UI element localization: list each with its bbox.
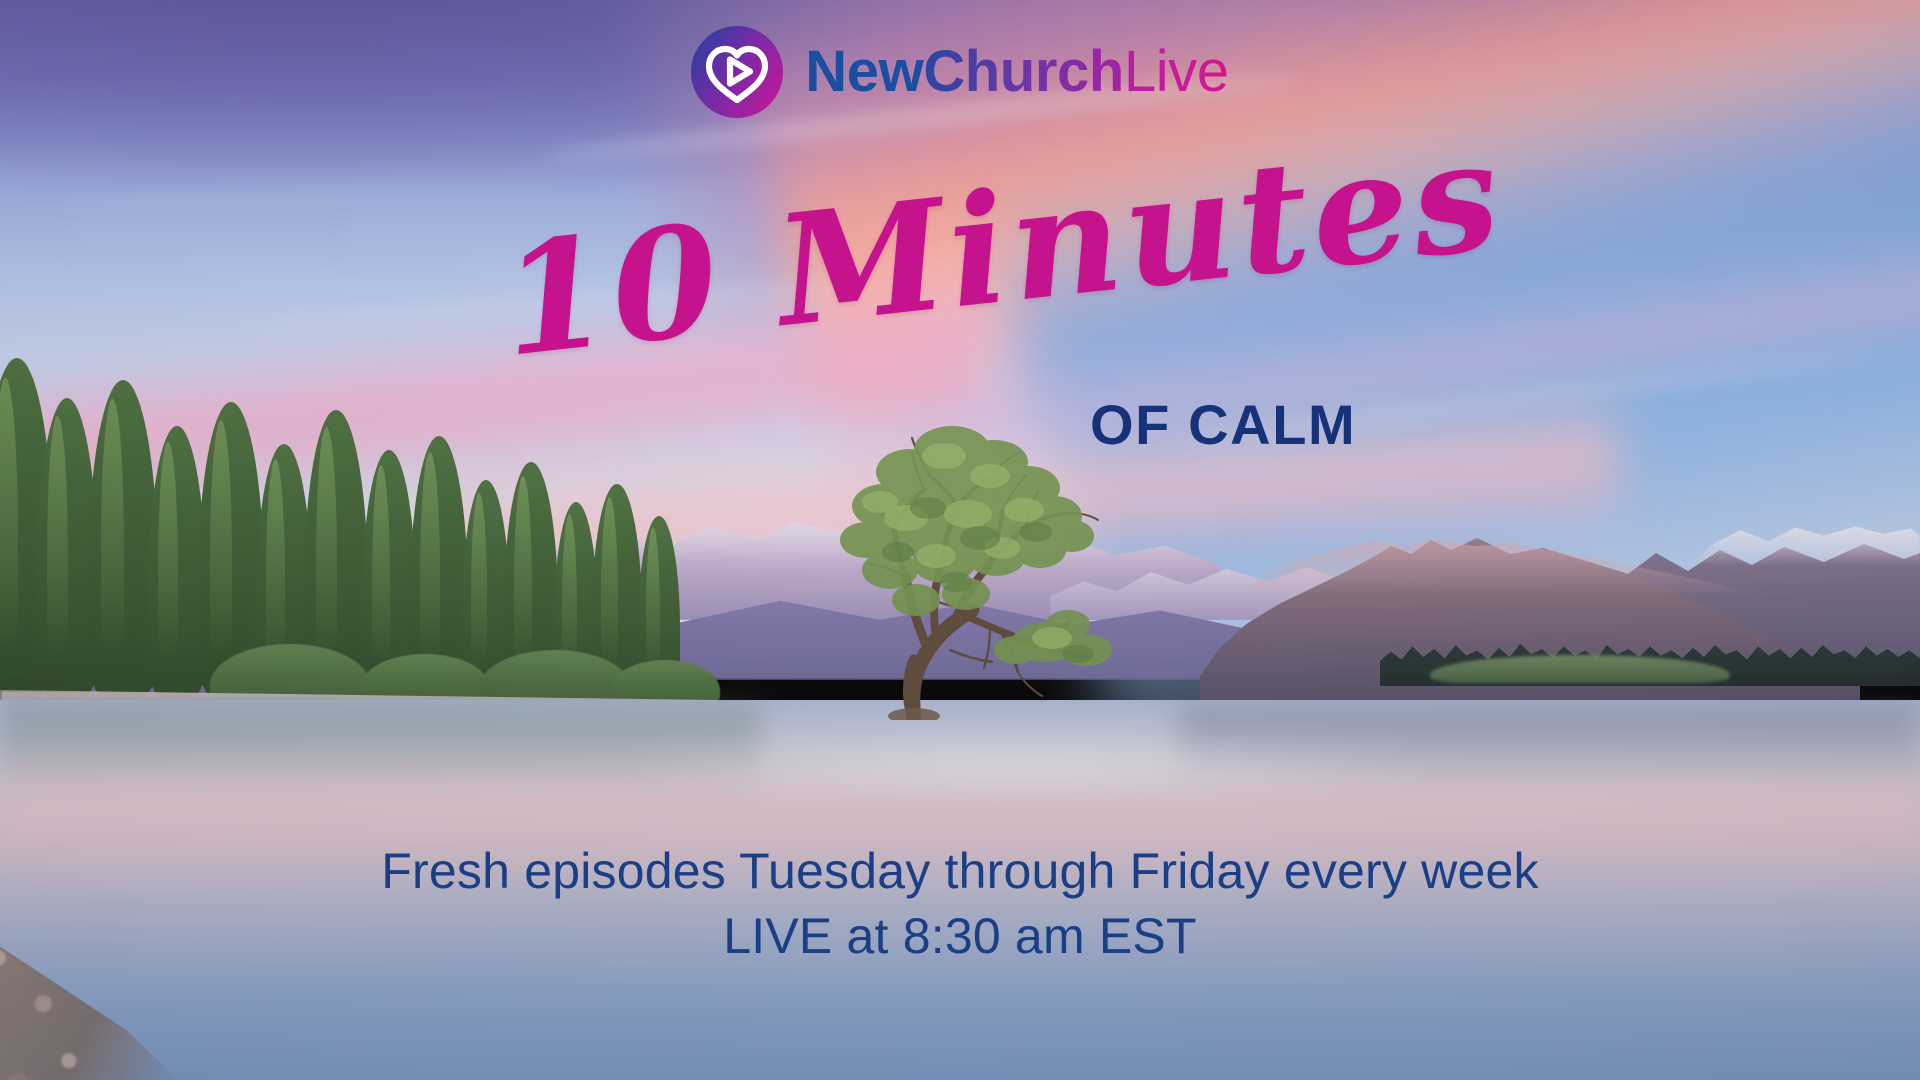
text-overlay: New Church Live 10 Minutes OF CALM Fresh…	[0, 0, 1920, 1080]
wordmark-church: Church	[923, 43, 1124, 101]
headline-subtitle: OF CALM	[1090, 392, 1356, 457]
promo-poster: New Church Live 10 Minutes OF CALM Fresh…	[0, 0, 1920, 1080]
brand-logo-lockup[interactable]: New Church Live	[0, 26, 1920, 118]
headline-script: 10 Minutes	[495, 118, 1509, 378]
wordmark-live: Live	[1124, 43, 1229, 101]
tagline-line-1: Fresh episodes Tuesday through Friday ev…	[0, 842, 1920, 901]
wordmark-new: New	[805, 43, 923, 101]
brand-wordmark: New Church Live	[805, 43, 1228, 101]
schedule-tagline: Fresh episodes Tuesday through Friday ev…	[0, 842, 1920, 966]
heart-play-icon	[691, 26, 783, 118]
tagline-line-2: LIVE at 8:30 am EST	[0, 907, 1920, 966]
